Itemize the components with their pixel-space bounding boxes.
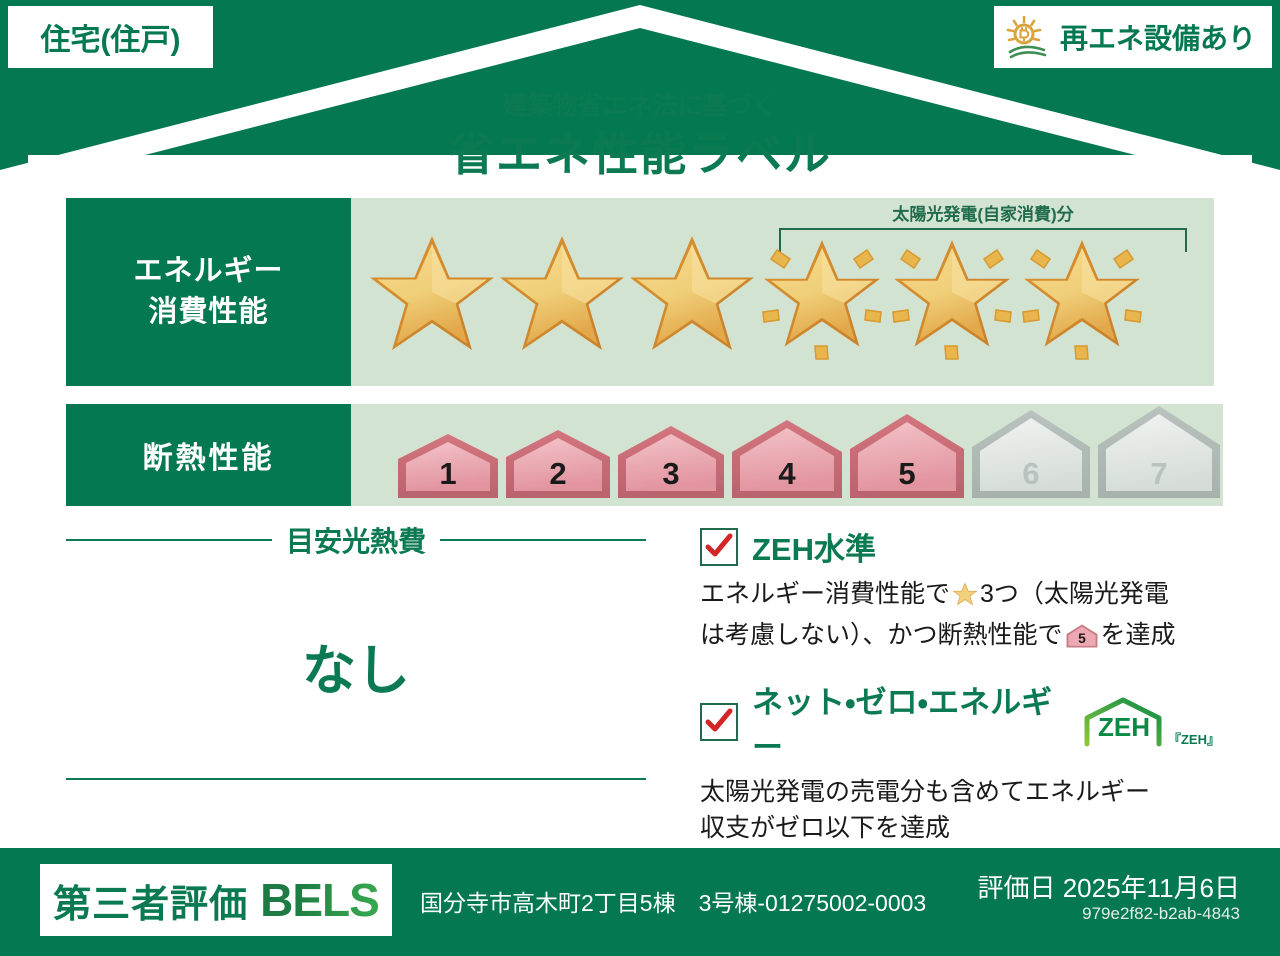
net-zero-title: ネット・ゼロ・エネルギー [752,677,1061,767]
evaluation-date: 評価日 2025年11月6日 [977,868,1240,905]
zeh-logo-caption: 『ZEH』 [1168,729,1220,748]
star-4-solar [759,222,885,362]
zeh-desc-line2-part1: は考慮しない）、かつ断熱性能で [700,621,1063,649]
inline-star-icon [952,581,978,618]
insulation-level-4-number: 4 [729,456,845,492]
zeh-desc-part1: エネルギー消費性能で [700,580,950,608]
zeh-standard-head: ZEH水準 [700,524,1220,569]
housing-type-badge: 住宅(住戸) [8,6,213,68]
header-subtitle: 建築物省エネ法に基づく [0,86,1280,122]
zeh-standard-checkbox[interactable] [700,528,738,566]
utility-cost-value: なし [66,626,646,705]
energy-key-line2: 消費性能 [148,292,268,333]
inline-house-badge-icon: 5 [1066,623,1098,660]
insulation-performance-key: 断熱性能 [66,404,351,506]
bels-jp-label: 第三者評価 [53,873,248,928]
star-2 [499,222,625,362]
zeh-standard-description: エネルギー消費性能で 3つ（太陽光発電 は考慮しない）、かつ断熱性能で 5 を達… [700,577,1220,659]
insulation-performance-value: 1 2 3 [351,404,1223,506]
insulation-level-7-number: 7 [1095,456,1223,492]
star-1 [369,222,495,362]
insulation-performance-row: 断熱性能 [66,404,1214,506]
page-title: 省エネ性能ラベル [0,118,1280,184]
star-rating [351,222,1145,362]
insulation-level-2-number: 2 [503,456,613,492]
net-zero-checkbox[interactable] [700,703,738,741]
certification-zeh-standard: ZEH水準 エネルギー消費性能で 3つ（太陽光発電 は考慮しない）、かつ断熱性能… [700,524,1220,659]
renewable-equipment-label: 再エネ設備あり [1060,17,1256,57]
net-zero-desc-line2: 収支がゼロ以下を達成 [700,814,950,842]
insulation-level-1: 1 [395,431,501,506]
insulation-level-3: 3 [615,423,727,506]
insulation-level-3-number: 3 [615,456,727,492]
energy-label-root: 住宅(住戸) 再エネ設備あり 建築物省エネ法 [0,0,1280,956]
zeh-desc-part2: （太陽光発電 [1019,580,1169,608]
insulation-level-5: 5 [847,411,967,506]
net-zero-head: ネット・ゼロ・エネルギー ZEH 『ZEH [700,677,1220,767]
rule-left [66,539,272,541]
insulation-level-scale: 1 2 3 [351,404,1223,506]
zeh-logo-text: ZEH [1098,712,1150,742]
certification-net-zero-energy: ネット・ゼロ・エネルギー ZEH 『ZEH [700,677,1220,846]
utility-cost-section: 目安光熱費 なし [66,520,646,810]
bels-logo-box: 第三者評価 BELS [40,864,392,936]
energy-key-line1: エネルギー [133,251,283,292]
utility-cost-bottom-rule [66,778,646,780]
rule-right [440,539,646,541]
net-zero-description: 太陽光発電の売電分も含めてエネルギー 収支がゼロ以下を達成 [700,775,1220,846]
renewable-equipment-badge: 再エネ設備あり [994,6,1272,68]
zeh-standard-title: ZEH水準 [752,524,876,569]
insulation-level-2: 2 [503,427,613,506]
insulation-level-1-number: 1 [395,456,501,492]
zeh-house-logo: ZEH 『ZEH』 [1081,696,1220,748]
label-footer: 第三者評価 BELS 国分寺市高木町2丁目5棟 3号棟-01275002-000… [0,848,1280,956]
utility-cost-heading-label: 目安光熱費 [286,520,426,560]
insulation-level-5-number: 5 [847,456,967,492]
bels-en-label: BELS [260,873,379,927]
insulation-level-7: 7 [1095,403,1223,506]
zeh-logo-mark: ZEH [1081,696,1165,748]
insulation-level-4: 4 [729,417,845,506]
net-zero-desc-line1: 太陽光発電の売電分も含めてエネルギー [700,778,1150,806]
energy-performance-value: 太陽光発電(自家消費)分 [351,198,1214,386]
star-5-solar [889,222,1015,362]
housing-type-label: 住宅(住戸) [41,15,181,59]
insulation-level-6: 6 [969,407,1093,506]
property-address: 国分寺市高木町2丁目5棟 3号棟-01275002-0003 [420,884,926,918]
certification-section: ZEH水準 エネルギー消費性能で 3つ（太陽光発電 は考慮しない）、かつ断熱性能… [700,524,1220,864]
utility-cost-heading: 目安光熱費 [66,520,646,560]
evaluation-id: 979e2f82-b2ab-4843 [1082,904,1240,924]
insulation-level-6-number: 6 [969,456,1093,492]
star-6-solar [1019,222,1145,362]
svg-text:5: 5 [1078,630,1086,646]
zeh-desc-star-count: 3つ [980,580,1019,608]
energy-performance-row: エネルギー 消費性能 太陽光発電(自家消費)分 [66,198,1214,386]
solar-sun-plug-icon [1004,14,1050,60]
star-3 [629,222,755,362]
energy-performance-key: エネルギー 消費性能 [66,198,351,386]
zeh-desc-line2-part2: を達成 [1101,621,1176,649]
